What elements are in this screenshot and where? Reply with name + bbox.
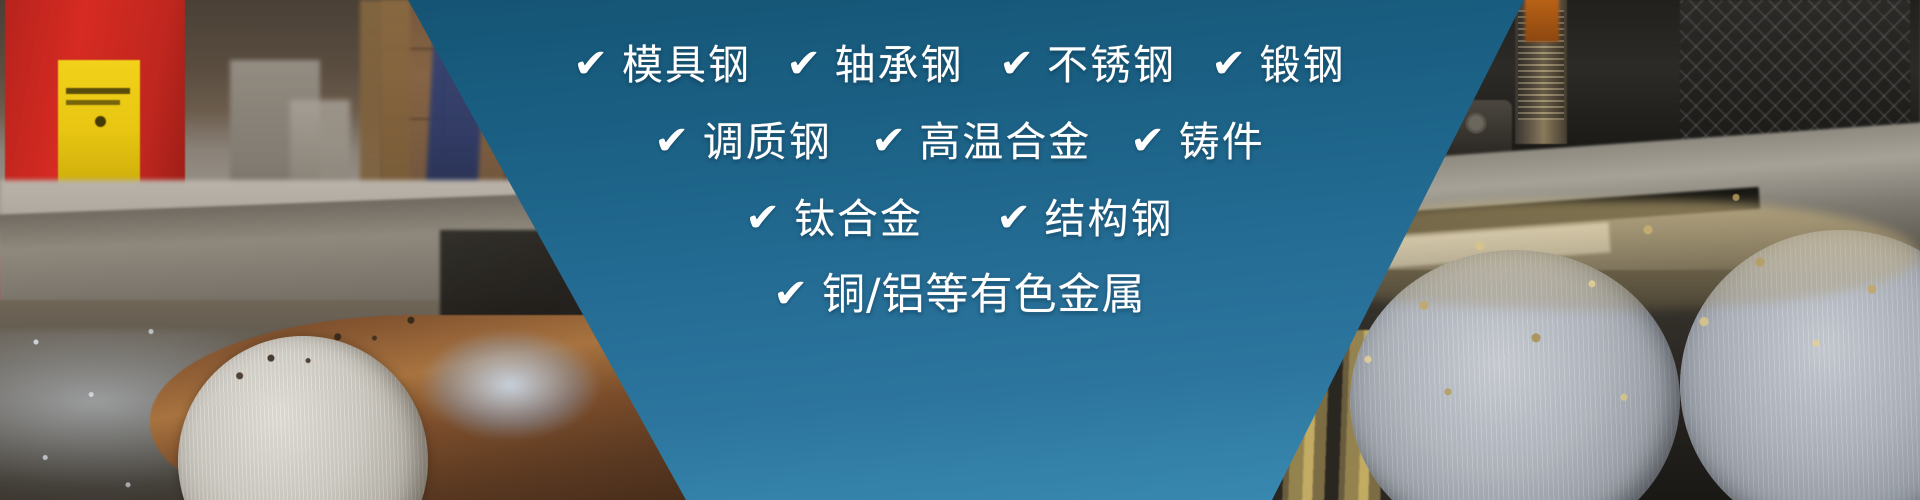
category-row-1: ✔ 模具钢 ✔ 轴承钢 ✔ 不锈钢 ✔ 锻钢 — [574, 44, 1345, 87]
category-item-forged-steel[interactable]: ✔ 锻钢 — [1212, 44, 1346, 87]
category-item-bearing-steel[interactable]: ✔ 轴承钢 — [787, 44, 964, 87]
check-icon: ✔ — [746, 198, 781, 238]
category-item-copper-aluminum-nonferrous[interactable]: ✔ 铜/铝等有色金属 — [774, 273, 1145, 318]
check-icon: ✔ — [574, 44, 609, 84]
category-item-castings[interactable]: ✔ 铸件 — [1131, 121, 1265, 164]
check-icon: ✔ — [654, 121, 689, 161]
check-icon: ✔ — [774, 274, 809, 314]
category-row-3: ✔ 钛合金 ✔ 结构钢 — [746, 198, 1173, 241]
check-icon: ✔ — [786, 44, 821, 84]
category-item-structural-steel[interactable]: ✔ 结构钢 — [997, 198, 1174, 241]
check-icon: ✔ — [999, 44, 1034, 84]
check-icon: ✔ — [996, 198, 1031, 238]
category-label: 高温合金 — [919, 121, 1091, 164]
category-label: 锻钢 — [1260, 44, 1346, 87]
category-label: 不锈钢 — [1047, 44, 1176, 87]
category-label: 铸件 — [1179, 121, 1265, 164]
category-label: 钛合金 — [794, 198, 923, 241]
category-row-2: ✔ 调质钢 ✔ 高温合金 ✔ 铸件 — [655, 121, 1265, 164]
check-icon: ✔ — [1211, 44, 1246, 84]
category-label: 轴承钢 — [835, 44, 964, 87]
category-item-stainless-steel[interactable]: ✔ 不锈钢 — [1000, 44, 1177, 87]
category-row-4: ✔ 铜/铝等有色金属 — [774, 273, 1145, 318]
category-item-high-temp-alloy[interactable]: ✔ 高温合金 — [872, 121, 1092, 164]
category-label: 铜/铝等有色金属 — [822, 273, 1146, 318]
category-label: 结构钢 — [1045, 198, 1174, 241]
product-category-banner: ✔ 模具钢 ✔ 轴承钢 ✔ 不锈钢 ✔ 锻钢 ✔ 调质钢 ✔ — [0, 0, 1920, 500]
category-item-mold-steel[interactable]: ✔ 模具钢 — [574, 44, 751, 87]
category-label: 模具钢 — [622, 44, 751, 87]
category-item-titanium-alloy[interactable]: ✔ 钛合金 — [746, 198, 923, 241]
category-list: ✔ 模具钢 ✔ 轴承钢 ✔ 不锈钢 ✔ 锻钢 ✔ 调质钢 ✔ — [0, 0, 1920, 500]
category-label: 调质钢 — [703, 121, 832, 164]
check-icon: ✔ — [1130, 121, 1165, 161]
category-item-quenched-tempered-steel[interactable]: ✔ 调质钢 — [655, 121, 832, 164]
check-icon: ✔ — [871, 121, 906, 161]
